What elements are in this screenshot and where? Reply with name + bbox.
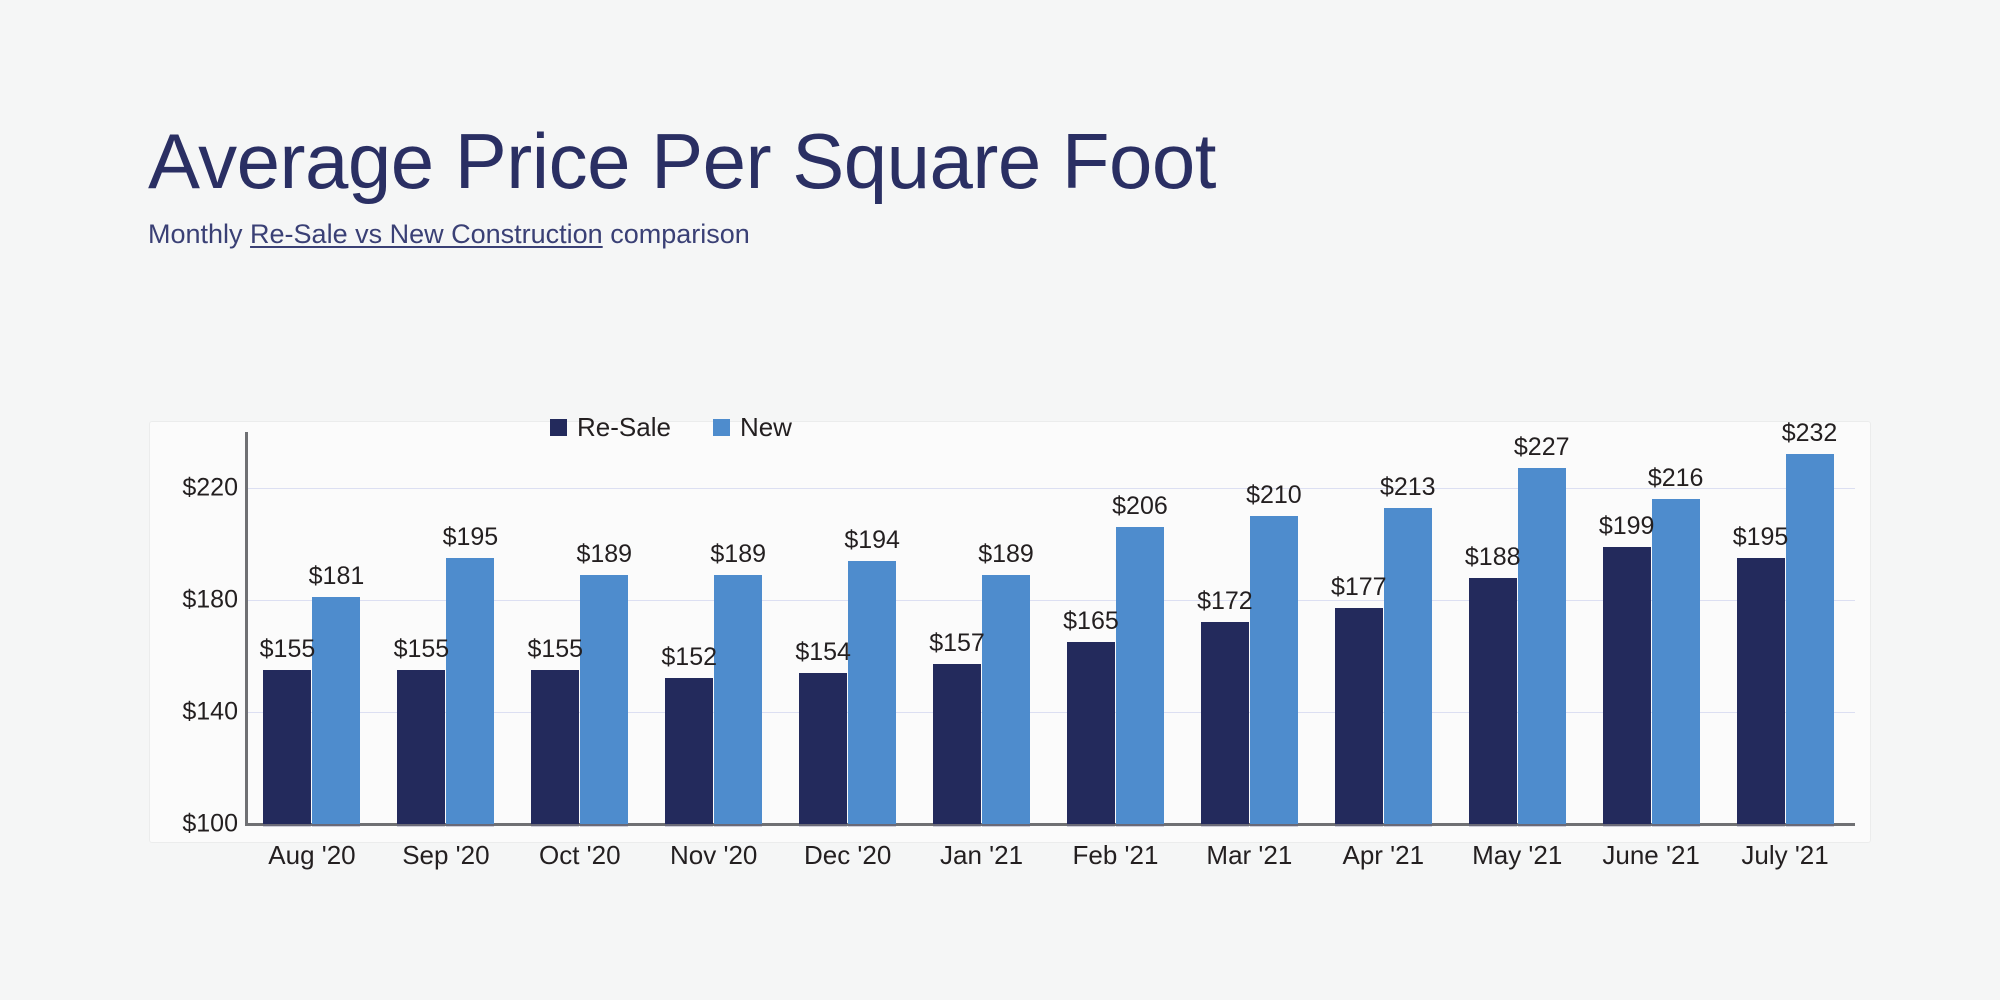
- bar-new[interactable]: [982, 575, 1030, 824]
- bar-value-label: $155: [527, 635, 583, 664]
- bar-new[interactable]: [446, 558, 494, 824]
- bar-value-label: $157: [929, 629, 985, 658]
- x-axis-tick-label: Apr '21: [1342, 840, 1424, 871]
- legend-item-new[interactable]: New: [713, 412, 792, 443]
- page-title: Average Price Per Square Foot: [148, 118, 1748, 204]
- plot-area: $155$181$155$195$155$189$152$189$154$194…: [248, 432, 1855, 824]
- y-axis-tick-label: $140: [118, 698, 238, 727]
- bar-value-label: $213: [1380, 473, 1436, 502]
- x-axis-tick-label: July '21: [1741, 840, 1828, 871]
- bar-value-label: $189: [576, 540, 632, 569]
- x-axis-tick-label: June '21: [1602, 840, 1700, 871]
- bar-re-sale[interactable]: [665, 678, 713, 824]
- chart-subtitle: Monthly Re-Sale vs New Construction comp…: [148, 218, 1748, 250]
- x-axis-tick-label: Oct '20: [539, 840, 621, 871]
- x-axis-tick-label: Jan '21: [940, 840, 1023, 871]
- subtitle-emphasis: Re-Sale vs New Construction: [250, 219, 603, 249]
- bar-re-sale[interactable]: [397, 670, 445, 824]
- bar-value-label: $188: [1465, 543, 1521, 572]
- bar-value-label: $165: [1063, 607, 1119, 636]
- y-axis-tick-label: $180: [118, 586, 238, 615]
- bar-new[interactable]: [1518, 468, 1566, 824]
- bar-value-label: $232: [1782, 419, 1838, 448]
- bar-chart: $100$140$180$220 Re-SaleNew $155$181$155…: [150, 422, 1880, 852]
- bar-re-sale[interactable]: [531, 670, 579, 824]
- bar-value-label: $181: [309, 562, 365, 591]
- y-axis-tick-label: $100: [118, 810, 238, 839]
- bar-re-sale[interactable]: [1469, 578, 1517, 824]
- subtitle-prefix: Monthly: [148, 219, 250, 249]
- bar-value-label: $206: [1112, 492, 1168, 521]
- bar-value-label: $177: [1331, 573, 1387, 602]
- bar-new[interactable]: [1250, 516, 1298, 824]
- bar-value-label: $199: [1599, 512, 1655, 541]
- x-axis-tick-label: Mar '21: [1206, 840, 1292, 871]
- y-axis-tick-label: $220: [118, 474, 238, 503]
- bar-new[interactable]: [1786, 454, 1834, 824]
- bar-value-label: $195: [1733, 523, 1789, 552]
- bar-re-sale[interactable]: [799, 673, 847, 824]
- bar-new[interactable]: [714, 575, 762, 824]
- bar-value-label: $155: [260, 635, 316, 664]
- subtitle-suffix: comparison: [603, 219, 750, 249]
- x-axis-tick-label: May '21: [1472, 840, 1562, 871]
- bar-re-sale[interactable]: [933, 664, 981, 824]
- bar-re-sale[interactable]: [1067, 642, 1115, 824]
- bar-value-label: $154: [795, 638, 851, 667]
- bar-value-label: $155: [394, 635, 450, 664]
- x-axis-tick-label: Nov '20: [670, 840, 757, 871]
- x-axis-tick-label: Aug '20: [268, 840, 355, 871]
- bar-new[interactable]: [848, 561, 896, 824]
- bar-new[interactable]: [1384, 508, 1432, 824]
- bar-value-label: $189: [710, 540, 766, 569]
- bar-value-label: $172: [1197, 587, 1253, 616]
- bar-value-label: $227: [1514, 433, 1570, 462]
- bar-re-sale[interactable]: [1201, 622, 1249, 824]
- bar-value-label: $195: [443, 523, 499, 552]
- x-axis-tick-label: Dec '20: [804, 840, 891, 871]
- bar-value-label: $189: [978, 540, 1034, 569]
- bar-new[interactable]: [1652, 499, 1700, 824]
- legend-swatch-icon: [550, 419, 567, 436]
- chart-legend: Re-SaleNew: [550, 412, 792, 443]
- chart-header: Average Price Per Square Foot Monthly Re…: [148, 118, 1748, 250]
- legend-label: New: [740, 412, 792, 443]
- bar-new[interactable]: [1116, 527, 1164, 824]
- bar-new[interactable]: [580, 575, 628, 824]
- bar-value-label: $216: [1648, 464, 1704, 493]
- x-axis-tick-label: Feb '21: [1072, 840, 1158, 871]
- legend-item-re-sale[interactable]: Re-Sale: [550, 412, 671, 443]
- legend-label: Re-Sale: [577, 412, 671, 443]
- bar-re-sale[interactable]: [1335, 608, 1383, 824]
- bar-value-label: $194: [844, 526, 900, 555]
- bar-re-sale[interactable]: [1737, 558, 1785, 824]
- bar-new[interactable]: [312, 597, 360, 824]
- legend-swatch-icon: [713, 419, 730, 436]
- bar-value-label: $210: [1246, 481, 1302, 510]
- bar-value-label: $152: [661, 643, 717, 672]
- bar-re-sale[interactable]: [263, 670, 311, 824]
- bar-re-sale[interactable]: [1603, 547, 1651, 824]
- x-axis-tick-label: Sep '20: [402, 840, 489, 871]
